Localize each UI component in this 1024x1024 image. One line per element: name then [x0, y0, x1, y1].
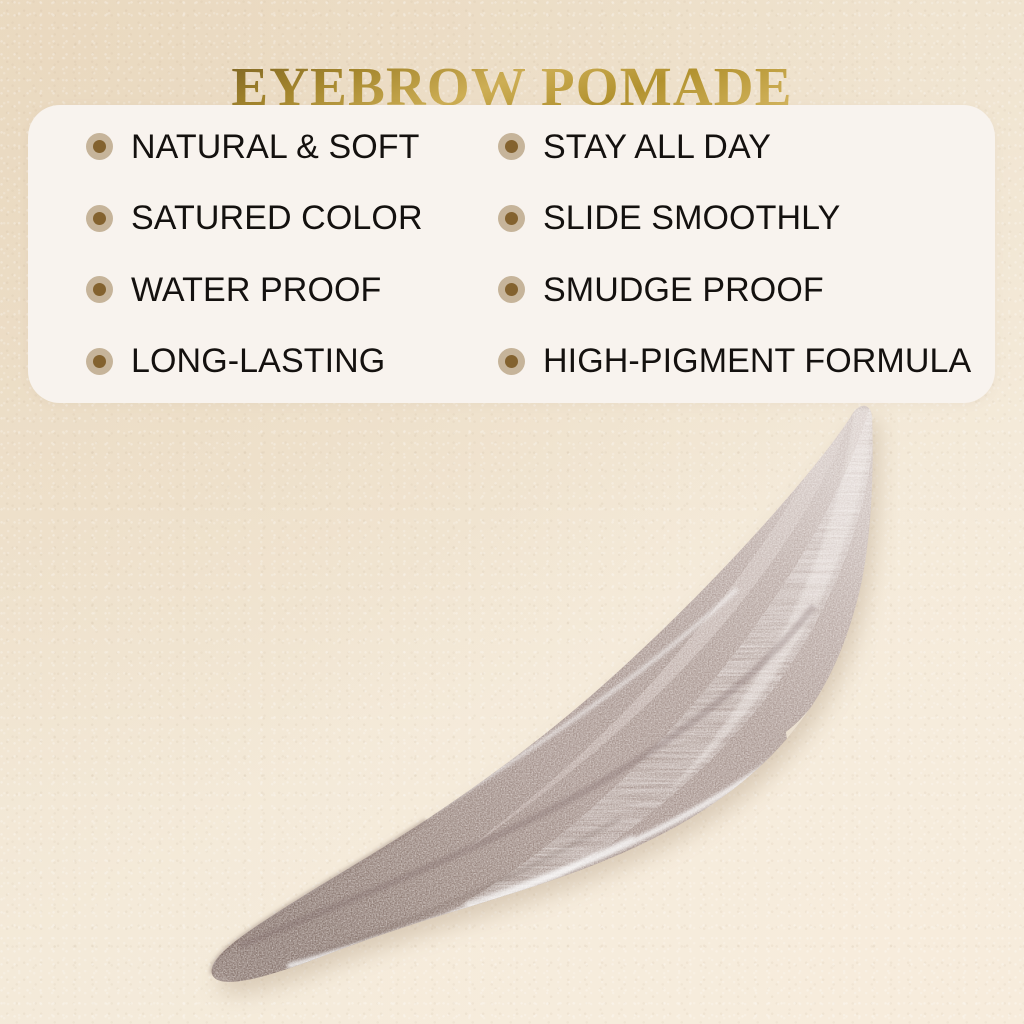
feature-item-slide-smoothly: SLIDE SMOOTHLY — [498, 183, 995, 255]
feature-label: SATURED COLOR — [131, 199, 423, 237]
feature-item-stay-all-day: STAY ALL DAY — [498, 111, 995, 183]
features-grid: NATURAL & SOFT STAY ALL DAY SATURED COLO… — [28, 105, 995, 403]
swatch-body — [150, 400, 950, 1024]
feature-label: NATURAL & SOFT — [131, 128, 420, 166]
bullet-dot-icon — [86, 205, 113, 232]
feature-item-long-lasting: LONG-LASTING — [86, 326, 498, 398]
product-feature-poster: EYEBROW POMADE NATURAL & SOFT STAY ALL D… — [0, 0, 1024, 1024]
bullet-dot-icon — [86, 348, 113, 375]
bullet-dot-icon — [498, 348, 525, 375]
bullet-dot-icon — [498, 276, 525, 303]
feature-item-water-proof: WATER PROOF — [86, 254, 498, 326]
bullet-dot-icon — [86, 276, 113, 303]
feature-label: SMUDGE PROOF — [543, 271, 824, 309]
feature-item-smudge-proof: SMUDGE PROOF — [498, 254, 995, 326]
feature-item-natural-soft: NATURAL & SOFT — [86, 111, 498, 183]
bullet-dot-icon — [498, 205, 525, 232]
feature-item-satured-color: SATURED COLOR — [86, 183, 498, 255]
feature-label: HIGH-PIGMENT FORMULA — [543, 342, 971, 380]
feature-item-high-pigment-formula: HIGH-PIGMENT FORMULA — [498, 326, 995, 398]
pomade-smear-swatch — [150, 400, 950, 1024]
feature-label: WATER PROOF — [131, 271, 381, 309]
bullet-dot-icon — [86, 133, 113, 160]
feature-label: STAY ALL DAY — [543, 128, 771, 166]
bullet-dot-icon — [498, 133, 525, 160]
feature-label: LONG-LASTING — [131, 342, 385, 380]
feature-label: SLIDE SMOOTHLY — [543, 199, 840, 237]
features-card: NATURAL & SOFT STAY ALL DAY SATURED COLO… — [28, 105, 995, 403]
